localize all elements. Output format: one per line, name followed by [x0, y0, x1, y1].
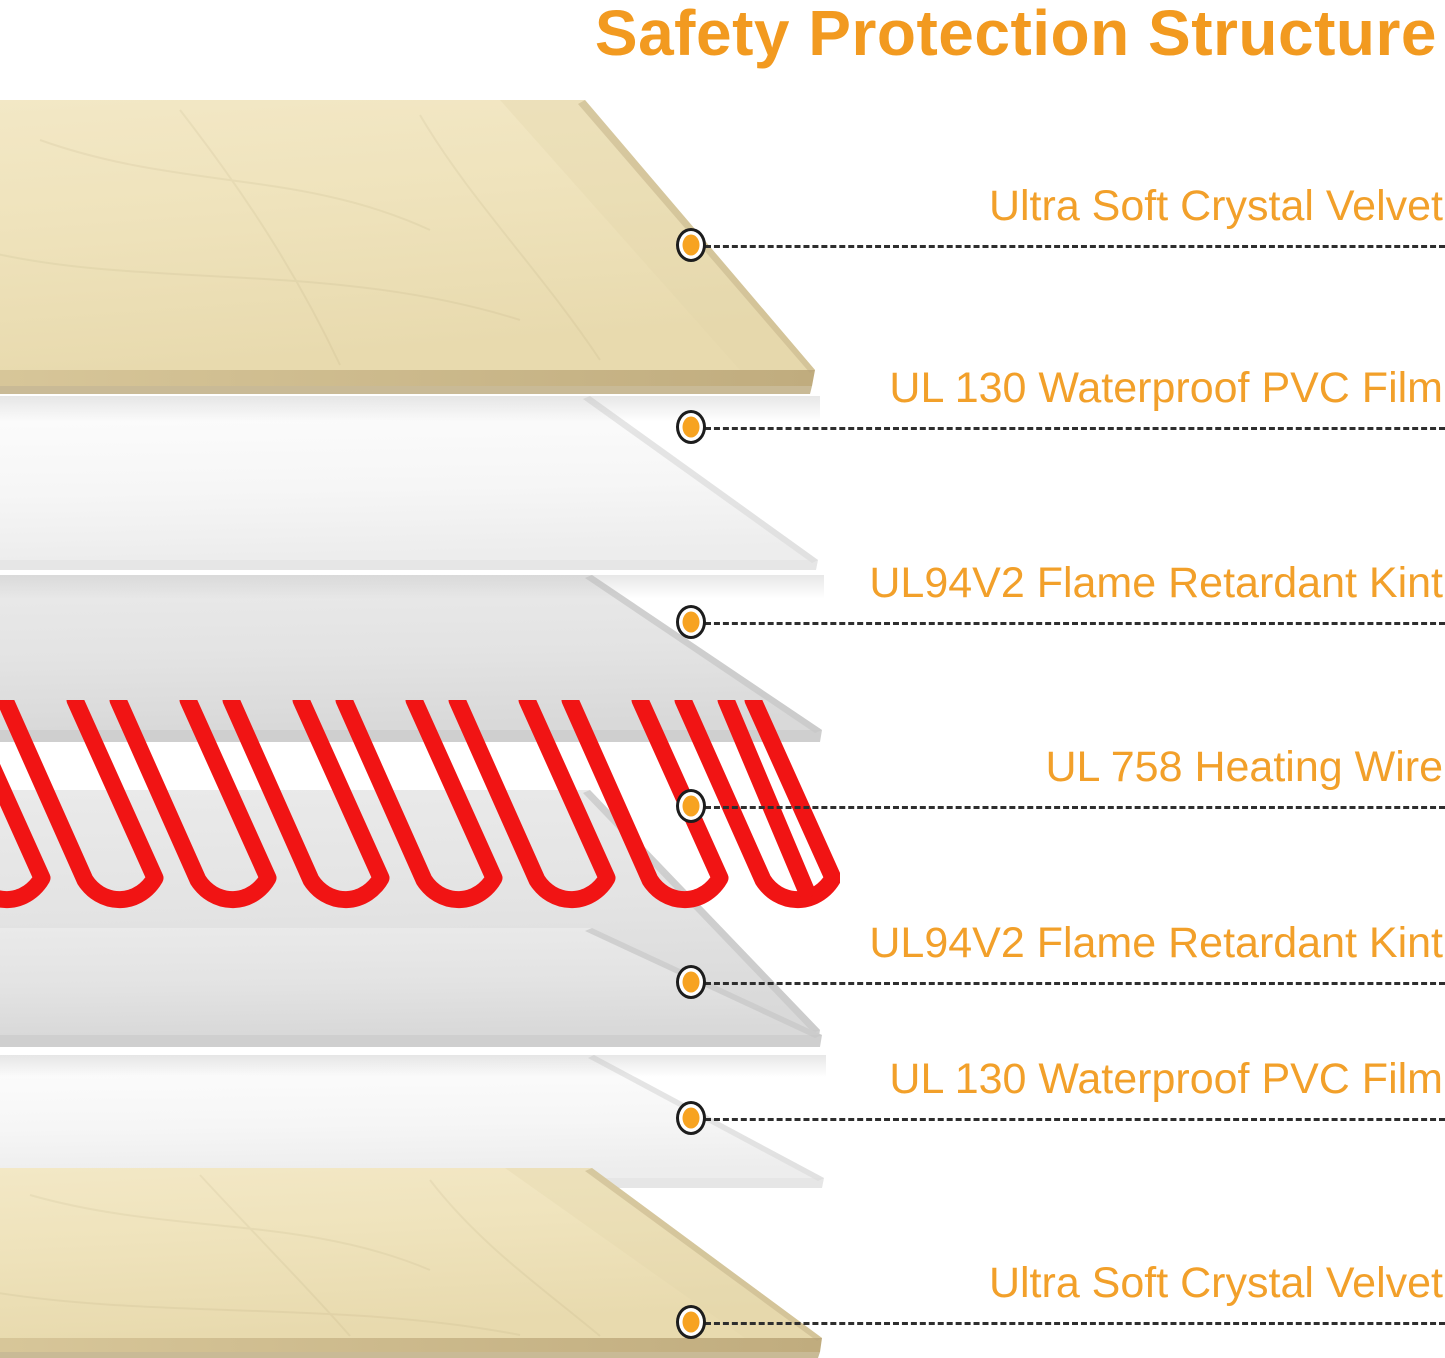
leader-line-6 [705, 1118, 1445, 1121]
callout-marker-3[interactable] [676, 605, 706, 639]
callout-label-5: UL94V2 Flame Retardant Kint [869, 919, 1443, 968]
callout-marker-6[interactable] [676, 1101, 706, 1135]
callout-label-6: UL 130 Waterproof PVC Film [889, 1055, 1443, 1104]
leader-line-4 [705, 806, 1445, 809]
leader-line-5 [705, 982, 1445, 985]
callout-label-2: UL 130 Waterproof PVC Film [889, 364, 1443, 413]
callout-marker-4[interactable] [676, 789, 706, 823]
leader-line-7 [705, 1322, 1445, 1325]
callout-label-3: UL94V2 Flame Retardant Kint [869, 559, 1443, 608]
callout-label-7: Ultra Soft Crystal Velvet [989, 1259, 1443, 1308]
callout-marker-7[interactable] [676, 1305, 706, 1339]
leader-line-2 [705, 427, 1445, 430]
safety-protection-structure-infographic: Safety Protection Structure [0, 0, 1445, 1358]
callout-marker-5[interactable] [676, 965, 706, 999]
callout-label-1: Ultra Soft Crystal Velvet [989, 182, 1443, 231]
leader-line-3 [705, 622, 1445, 625]
callout-label-4: UL 758 Heating Wire [1045, 743, 1443, 792]
callout-marker-1[interactable] [676, 228, 706, 262]
callout-marker-2[interactable] [676, 410, 706, 444]
leader-line-1 [705, 245, 1445, 248]
